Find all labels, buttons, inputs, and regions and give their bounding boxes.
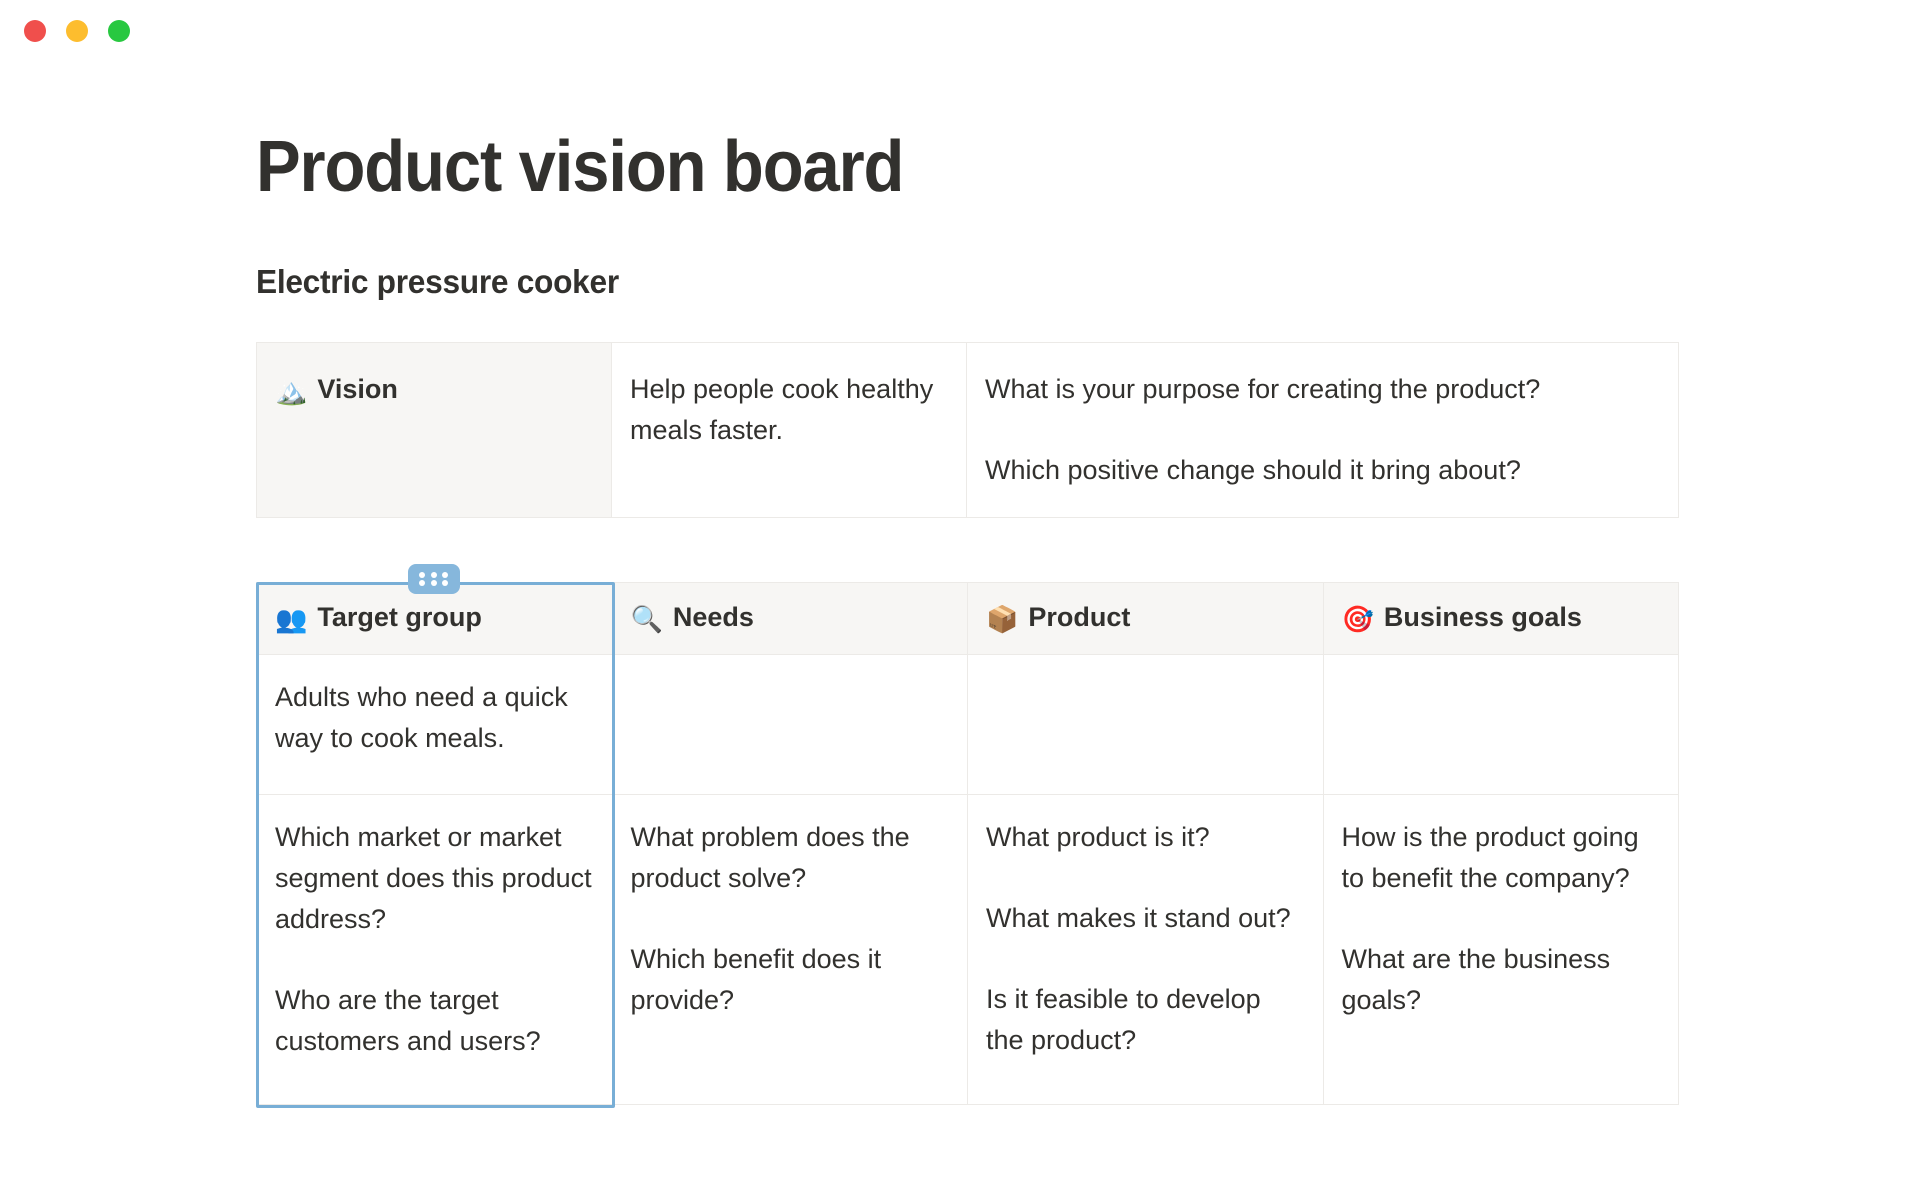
minimize-button[interactable]	[66, 20, 88, 42]
board-table: 👥Target group 🔍Needs 📦Product 🎯Business …	[256, 582, 1679, 1105]
board-placeholder-row: Which market or market segment does this…	[257, 795, 1679, 1105]
window-title-bar	[0, 0, 1920, 62]
maximize-button[interactable]	[108, 20, 130, 42]
board-placeholder-cell-business-goals[interactable]: How is the product going to benefit the …	[1323, 795, 1679, 1105]
drag-dot	[442, 572, 448, 578]
board-placeholder-line: Which market or market segment does this…	[275, 817, 594, 940]
magnifying-glass-icon: 🔍	[631, 604, 663, 634]
board-value-cell-needs[interactable]	[612, 655, 968, 795]
board-value-cell-business-goals[interactable]	[1323, 655, 1679, 795]
direct-hit-icon: 🎯	[1342, 604, 1374, 634]
board-table-wrapper: 👥Target group 🔍Needs 📦Product 🎯Business …	[0, 582, 1920, 1105]
vision-value-text: Help people cook healthy meals faster.	[630, 374, 933, 445]
board-placeholder-line: What product is it?	[986, 817, 1305, 858]
vision-placeholder-line: Which positive change should it bring ab…	[985, 450, 1660, 491]
vision-placeholder-cell[interactable]: What is your purpose for creating the pr…	[967, 343, 1679, 518]
drag-dot	[419, 580, 425, 586]
board-placeholder-line: What problem does the product solve?	[631, 817, 950, 899]
board-header-row: 👥Target group 🔍Needs 📦Product 🎯Business …	[257, 583, 1679, 655]
page-title[interactable]: Product vision board	[256, 124, 1804, 210]
drag-dot	[419, 572, 425, 578]
traffic-light-group	[24, 20, 130, 42]
board-header-label: Product	[1028, 602, 1130, 632]
board-placeholder-cell-product[interactable]: What product is it? What makes it stand …	[968, 795, 1324, 1105]
board-placeholder-line: How is the product going to benefit the …	[1342, 817, 1661, 899]
package-icon: 📦	[986, 604, 1018, 634]
board-header-label: Target group	[317, 602, 482, 632]
busts-in-silhouette-icon: 👥	[275, 604, 307, 634]
column-drag-handle[interactable]	[408, 564, 460, 594]
drag-dot	[442, 580, 448, 586]
drag-dot	[431, 580, 437, 586]
board-placeholder-cell-target-group[interactable]: Which market or market segment does this…	[257, 795, 613, 1105]
drag-dot	[431, 572, 437, 578]
board-value-row: Adults who need a quick way to cook meal…	[257, 655, 1679, 795]
board-header-cell-product[interactable]: 📦Product	[968, 583, 1324, 655]
table-row: 🏔️Vision Help people cook healthy meals …	[257, 343, 1679, 518]
board-placeholder-line: Is it feasible to develop the product?	[986, 979, 1305, 1061]
board-header-cell-business-goals[interactable]: 🎯Business goals	[1323, 583, 1679, 655]
board-header-cell-needs[interactable]: 🔍Needs	[612, 583, 968, 655]
board-placeholder-cell-needs[interactable]: What problem does the product solve? Whi…	[612, 795, 968, 1105]
close-button[interactable]	[24, 20, 46, 42]
vision-label-cell[interactable]: 🏔️Vision	[257, 343, 612, 518]
board-placeholder-line: Which benefit does it provide?	[631, 939, 950, 1021]
vision-value-cell[interactable]: Help people cook healthy meals faster.	[612, 343, 967, 518]
section-title[interactable]: Electric pressure cooker	[256, 262, 1853, 302]
document-body: Product vision board Electric pressure c…	[0, 62, 1920, 1105]
board-header-label: Needs	[673, 602, 754, 632]
board-placeholder-line: Who are the target customers and users?	[275, 980, 594, 1062]
board-value-cell-target-group[interactable]: Adults who need a quick way to cook meal…	[257, 655, 613, 795]
board-header-label: Business goals	[1384, 602, 1582, 632]
board-placeholder-line: What makes it stand out?	[986, 898, 1305, 939]
vision-placeholder-line: What is your purpose for creating the pr…	[985, 369, 1660, 410]
board-value-cell-product[interactable]	[968, 655, 1324, 795]
vision-label-text: Vision	[317, 374, 398, 404]
board-placeholder-line: What are the business goals?	[1342, 939, 1661, 1021]
vision-table: 🏔️Vision Help people cook healthy meals …	[256, 342, 1679, 518]
board-value-text: Adults who need a quick way to cook meal…	[275, 682, 568, 753]
mountain-icon: 🏔️	[275, 376, 307, 406]
